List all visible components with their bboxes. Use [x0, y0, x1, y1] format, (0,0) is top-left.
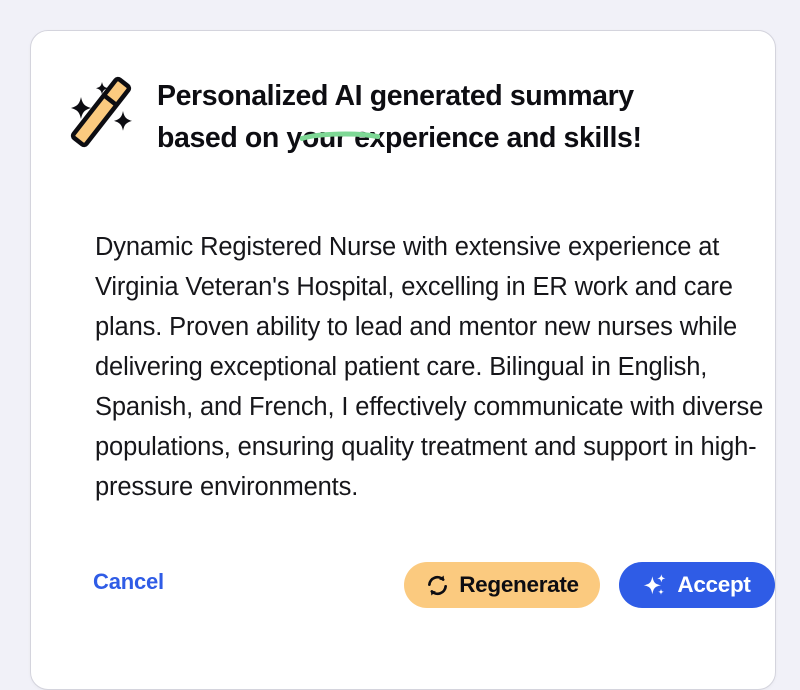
summary-text: Dynamic Registered Nurse with extensive …	[95, 227, 779, 507]
refresh-icon	[425, 573, 450, 598]
magic-wand-icon	[65, 67, 137, 157]
sparkles-icon	[643, 573, 668, 598]
title-line-1: Personalized AI generated summary	[157, 75, 642, 117]
cancel-button[interactable]: Cancel	[93, 569, 164, 595]
regenerate-button-label: Regenerate	[459, 572, 579, 598]
page-title: Personalized AI generated summary based …	[157, 61, 642, 159]
accept-button-label: Accept	[677, 572, 750, 598]
ai-summary-card: Personalized AI generated summary based …	[30, 30, 776, 690]
accept-button[interactable]: Accept	[619, 562, 775, 608]
card-header: Personalized AI generated summary based …	[65, 61, 741, 159]
title-line-2: based on your experience and skills!	[157, 117, 642, 159]
card-actions: Cancel Regenerate Accept	[93, 562, 743, 608]
regenerate-button[interactable]: Regenerate	[404, 562, 600, 608]
